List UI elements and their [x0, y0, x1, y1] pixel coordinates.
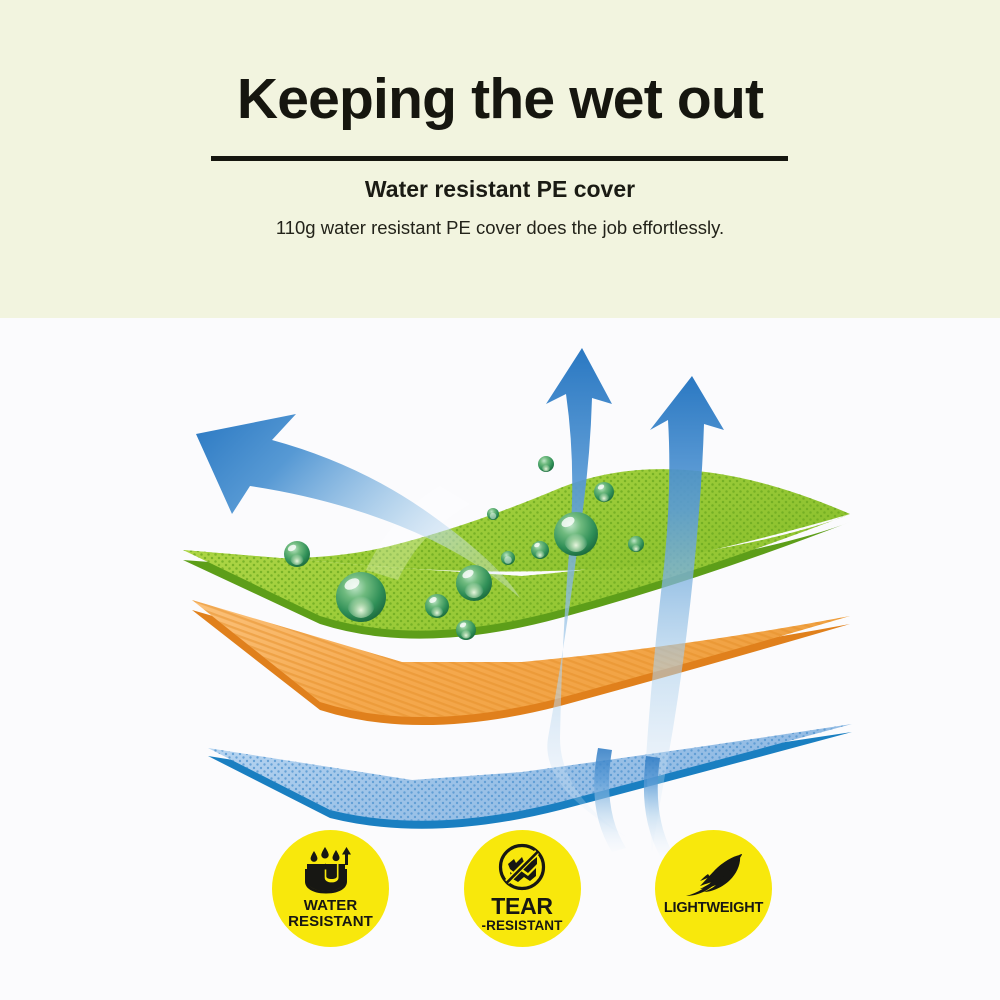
title-divider [211, 156, 788, 161]
badge-label-line1: WATER [288, 898, 373, 914]
badge-lightweight[interactable]: LIGHTWEIGHT [655, 830, 772, 947]
badge-label-line1: TEAR [482, 894, 563, 918]
header-band: Keeping the wet out Water resistant PE c… [0, 0, 1000, 318]
subtitle: Water resistant PE cover [0, 174, 1000, 204]
badge-tear-resistant[interactable]: TEAR -RESISTANT [464, 830, 581, 947]
fabric-layers-illustration [0, 318, 1000, 858]
badge-label-line2: -RESISTANT [482, 918, 563, 933]
feature-badge-row: WATER RESISTANT TEAR -RESISTANT [272, 830, 772, 970]
bottom-layer-blue [208, 724, 852, 829]
top-layer-green [183, 469, 850, 639]
feather-lightweight-icon [678, 852, 750, 898]
badge-lightweight-label: LIGHTWEIGHT [664, 900, 763, 916]
page-title: Keeping the wet out [0, 68, 1000, 130]
tear-resistant-icon [497, 842, 547, 892]
description-text: 110g water resistant PE cover does the j… [0, 215, 1000, 241]
badge-label-line1: LIGHTWEIGHT [664, 900, 763, 916]
water-resistant-icon [302, 844, 360, 896]
product-feature-panel: Keeping the wet out Water resistant PE c… [0, 0, 1000, 1000]
badge-water-resistant-label: WATER RESISTANT [288, 898, 373, 930]
badge-label-line2: RESISTANT [288, 914, 373, 930]
badge-tear-resistant-label: TEAR -RESISTANT [482, 894, 563, 933]
badge-water-resistant[interactable]: WATER RESISTANT [272, 830, 389, 947]
